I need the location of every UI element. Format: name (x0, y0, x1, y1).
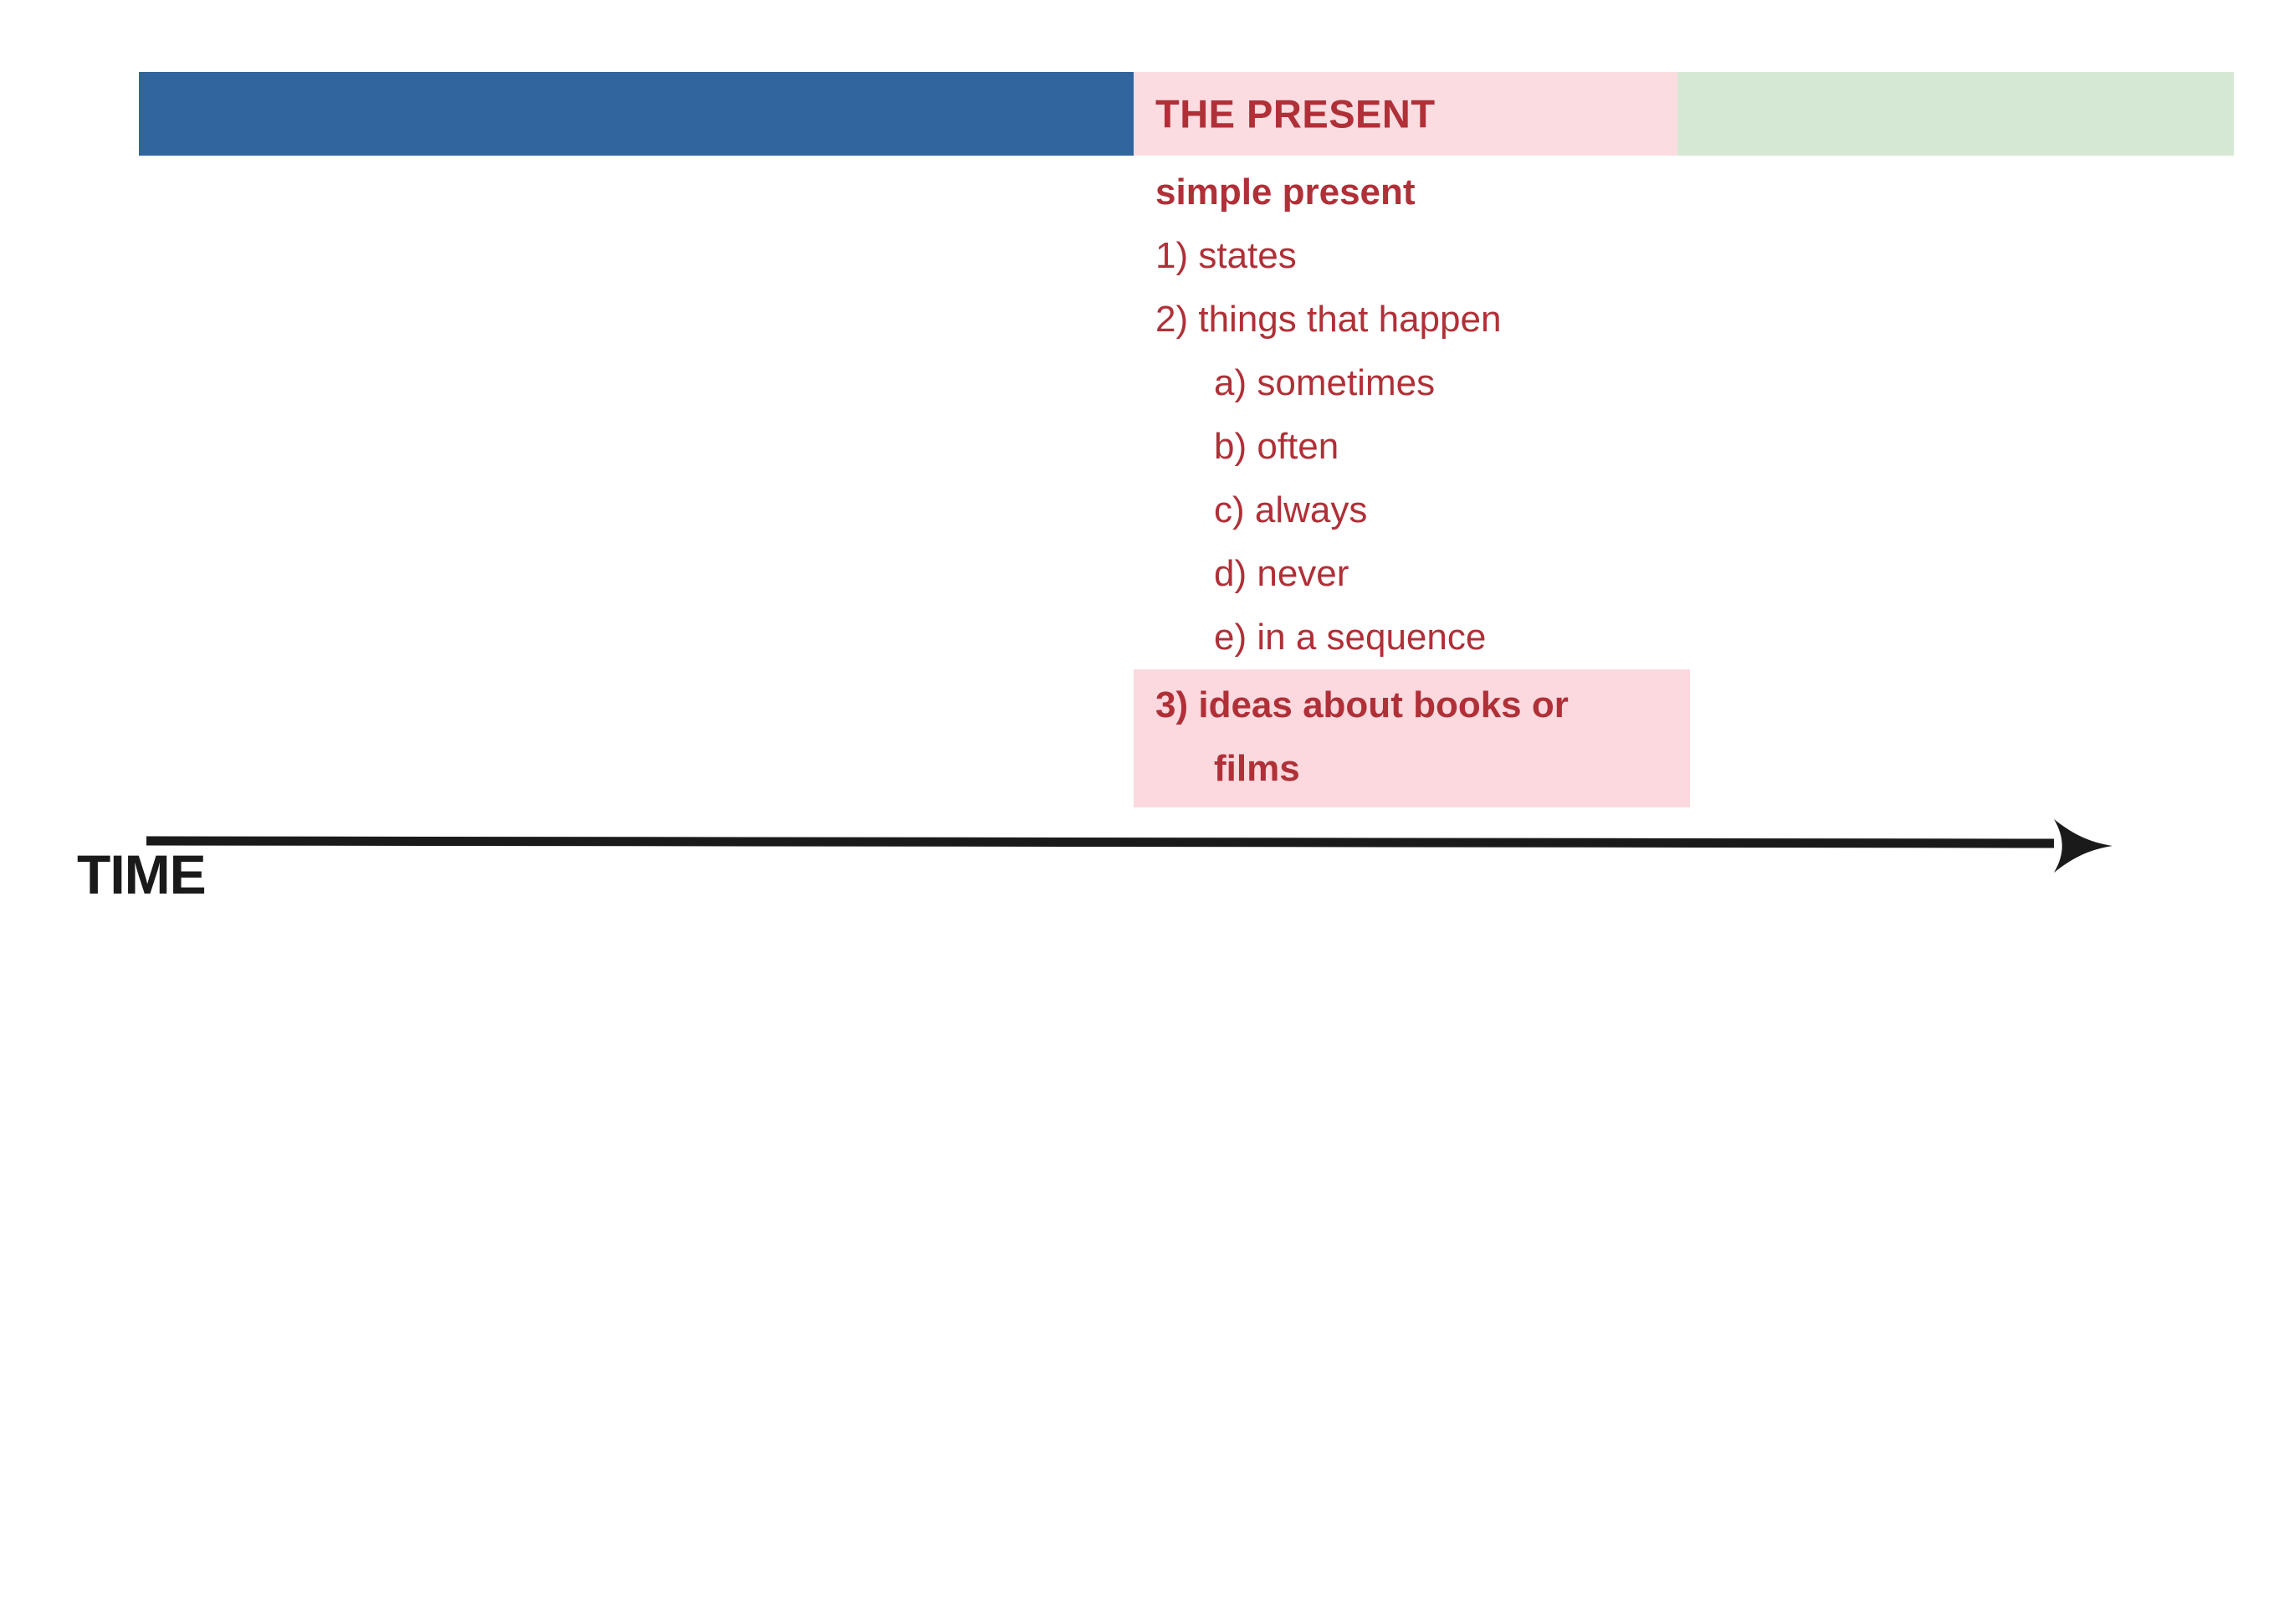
note-item-3-line1: 3) ideas about books or (1134, 674, 1690, 737)
note-subitem-d: d) never (1134, 542, 1719, 606)
axis-line (146, 841, 2054, 843)
timeline-band: THE PRESENT (139, 72, 2234, 156)
timeline-segment-present: THE PRESENT (1134, 72, 1677, 156)
note-item-1: 1) states (1134, 224, 1719, 288)
note-subitem-a: a) sometimes (1134, 351, 1719, 415)
note-item-3-highlight: 3) ideas about books or films (1134, 669, 1690, 807)
arrowhead-icon (2054, 819, 2112, 873)
note-subitem-b: b) often (1134, 415, 1719, 479)
note-item-3-line2: films (1134, 737, 1690, 801)
present-notes-list: simple present 1) states 2) things that … (1134, 161, 1719, 807)
notes-title: simple present (1134, 161, 1719, 224)
note-item-2: 2) things that happen (1134, 288, 1719, 351)
note-subitem-c: c) always (1134, 479, 1719, 542)
time-axis-label: TIME (77, 847, 206, 902)
timeline-segment-past (139, 72, 1134, 156)
timeline-segment-future (1677, 72, 2234, 156)
present-heading: THE PRESENT (1155, 95, 1436, 134)
time-axis-arrow (0, 799, 2284, 908)
note-subitem-e: e) in a sequence (1134, 606, 1719, 669)
